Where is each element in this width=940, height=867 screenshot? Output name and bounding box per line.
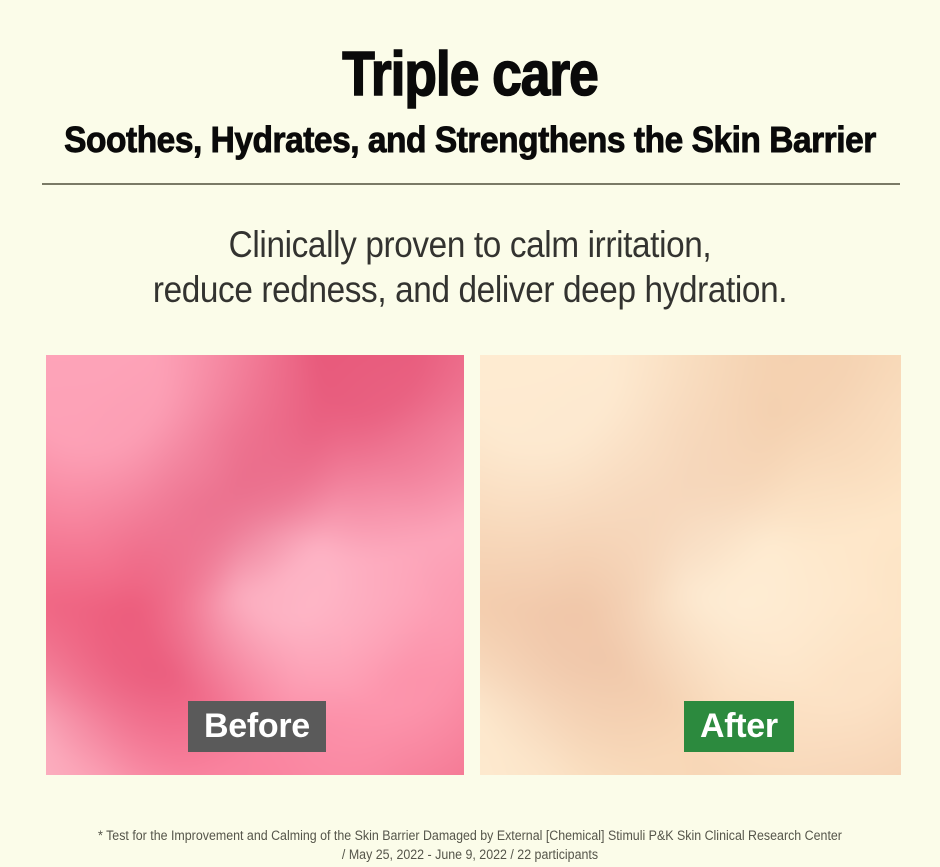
after-panel: After <box>480 355 901 775</box>
promo-page: Triple care Soothes, Hydrates, and Stren… <box>0 0 940 867</box>
footnote-line-1: * Test for the Improvement and Calming o… <box>38 826 903 845</box>
footnote: * Test for the Improvement and Calming o… <box>38 826 903 864</box>
section-divider <box>42 183 900 185</box>
before-after-comparison: Before After <box>46 355 901 775</box>
before-panel: Before <box>46 355 464 775</box>
after-badge: After <box>684 701 794 752</box>
footnote-line-2: / May 25, 2022 - June 9, 2022 / 22 parti… <box>38 845 903 864</box>
lead-paragraph: Clinically proven to calm irritation, re… <box>47 222 893 312</box>
before-badge: Before <box>188 701 326 752</box>
page-title: Triple care <box>66 40 874 110</box>
lead-line-2: reduce redness, and deliver deep hydrati… <box>47 267 893 312</box>
page-subtitle: Soothes, Hydrates, and Strengthens the S… <box>33 118 907 162</box>
lead-line-1: Clinically proven to calm irritation, <box>47 222 893 267</box>
